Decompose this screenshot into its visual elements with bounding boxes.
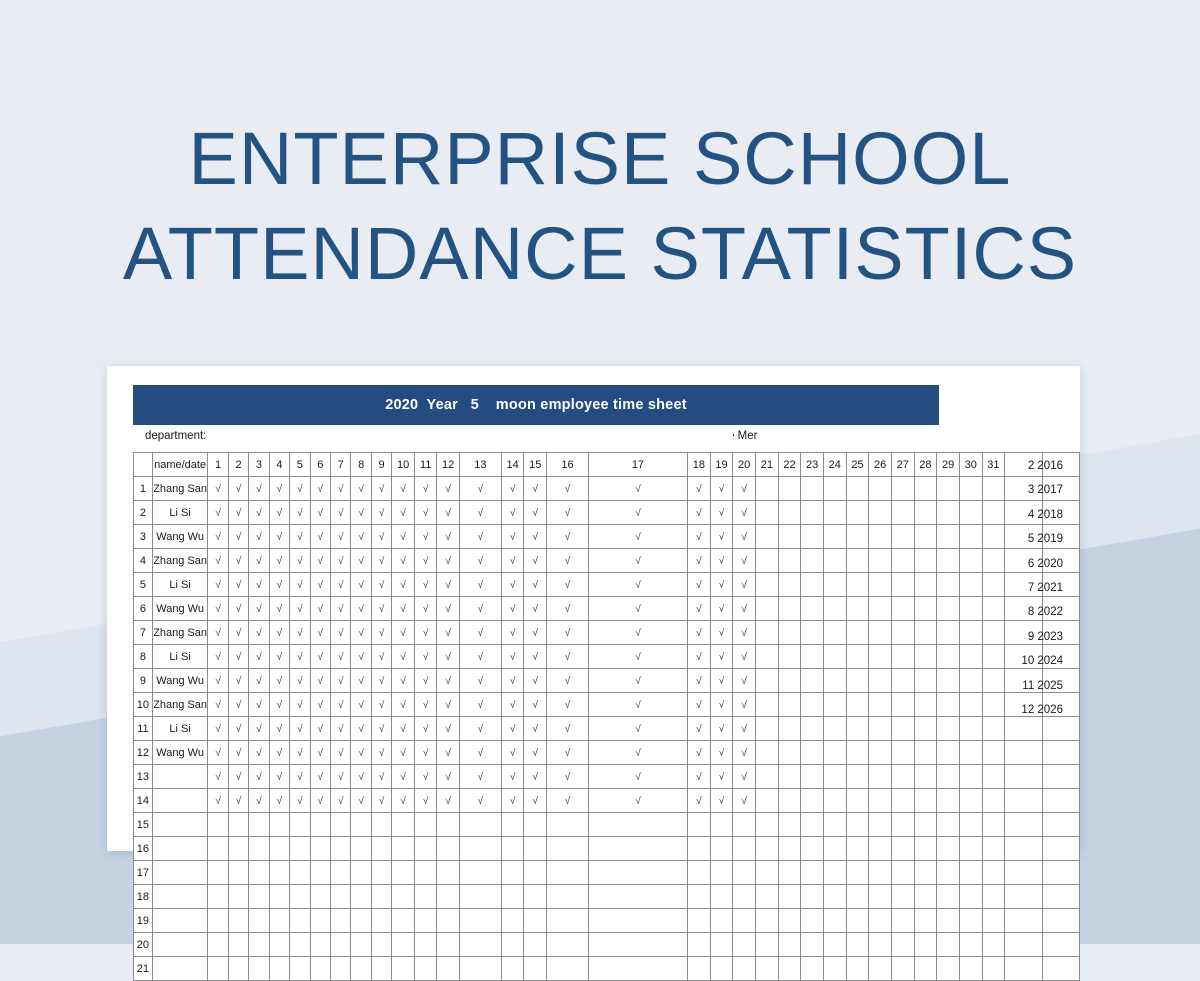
attendance-cell-r14-d6[interactable]: √ (310, 789, 330, 813)
attendance-cell-r6-d5[interactable]: √ (290, 597, 310, 621)
attendance-cell-r11-d25[interactable] (846, 717, 869, 741)
attendance-cell-r6-d2[interactable]: √ (228, 597, 248, 621)
attendance-cell-r8-d18[interactable]: √ (688, 645, 711, 669)
attendance-cell-r15-d22[interactable] (778, 813, 801, 837)
attendance-cell-r5-d5[interactable]: √ (290, 573, 310, 597)
attendance-cell-r17-d12[interactable] (437, 861, 460, 885)
attendance-cell-r14-d25[interactable] (846, 789, 869, 813)
attendance-cell-r18-d2[interactable] (228, 885, 248, 909)
attendance-cell-r18-d20[interactable] (733, 885, 756, 909)
attendance-cell-r17-d6[interactable] (310, 861, 330, 885)
attendance-cell-r9-d25[interactable] (846, 669, 869, 693)
attendance-cell-r19-d19[interactable] (710, 909, 733, 933)
employee-name-cell[interactable]: Wang Wu (152, 525, 208, 549)
attendance-cell-r7-d12[interactable]: √ (437, 621, 460, 645)
attendance-cell-r8-d3[interactable]: √ (249, 645, 269, 669)
attendance-cell-r12-d14[interactable]: √ (501, 741, 524, 765)
extra-cell-r17-2[interactable] (1042, 861, 1079, 885)
attendance-cell-r10-d3[interactable]: √ (249, 693, 269, 717)
attendance-cell-r11-d10[interactable]: √ (392, 717, 415, 741)
attendance-cell-r7-d11[interactable]: √ (414, 621, 436, 645)
attendance-cell-r16-d24[interactable] (823, 837, 846, 861)
header-day-19[interactable]: 19 (710, 453, 733, 477)
attendance-cell-r13-d1[interactable]: √ (208, 765, 228, 789)
attendance-cell-r3-d13[interactable]: √ (459, 525, 501, 549)
attendance-cell-r4-d7[interactable]: √ (331, 549, 351, 573)
employee-name-cell[interactable] (152, 765, 208, 789)
attendance-cell-r9-d2[interactable]: √ (228, 669, 248, 693)
attendance-cell-r2-d6[interactable]: √ (310, 501, 330, 525)
attendance-cell-r21-d19[interactable] (710, 957, 733, 981)
attendance-cell-r15-d2[interactable] (228, 813, 248, 837)
attendance-cell-r19-d10[interactable] (392, 909, 415, 933)
attendance-cell-r7-d29[interactable] (937, 621, 960, 645)
attendance-cell-r14-d29[interactable] (937, 789, 960, 813)
attendance-cell-r19-d14[interactable] (501, 909, 524, 933)
attendance-cell-r15-d20[interactable] (733, 813, 756, 837)
attendance-cell-r11-d1[interactable]: √ (208, 717, 228, 741)
attendance-cell-r13-d8[interactable]: √ (351, 765, 371, 789)
header-day-1[interactable]: 1 (208, 453, 228, 477)
attendance-cell-r2-d20[interactable]: √ (733, 501, 756, 525)
attendance-cell-r13-d28[interactable] (914, 765, 937, 789)
attendance-cell-r3-d3[interactable]: √ (249, 525, 269, 549)
attendance-cell-r12-d21[interactable] (756, 741, 779, 765)
attendance-cell-r19-d2[interactable] (228, 909, 248, 933)
attendance-cell-r15-d3[interactable] (249, 813, 269, 837)
attendance-cell-r13-d31[interactable] (982, 765, 1005, 789)
attendance-cell-r2-d13[interactable]: √ (459, 501, 501, 525)
extra-cell-r18-1[interactable] (1005, 885, 1042, 909)
attendance-cell-r4-d30[interactable] (959, 549, 982, 573)
attendance-cell-r3-d26[interactable] (869, 525, 892, 549)
extra-cell-r20-1[interactable] (1005, 933, 1042, 957)
attendance-cell-r6-d13[interactable]: √ (459, 597, 501, 621)
attendance-cell-r8-d20[interactable]: √ (733, 645, 756, 669)
attendance-cell-r9-d18[interactable]: √ (688, 669, 711, 693)
attendance-cell-r21-d17[interactable] (588, 957, 687, 981)
attendance-cell-r20-d10[interactable] (392, 933, 415, 957)
attendance-cell-r1-d27[interactable] (891, 477, 914, 501)
attendance-cell-r19-d5[interactable] (290, 909, 310, 933)
header-day-4[interactable]: 4 (269, 453, 289, 477)
attendance-cell-r16-d4[interactable] (269, 837, 289, 861)
attendance-cell-r14-d21[interactable] (756, 789, 779, 813)
attendance-cell-r17-d9[interactable] (371, 861, 391, 885)
attendance-cell-r21-d24[interactable] (823, 957, 846, 981)
attendance-cell-r6-d25[interactable] (846, 597, 869, 621)
attendance-cell-r8-d28[interactable] (914, 645, 937, 669)
attendance-cell-r19-d29[interactable] (937, 909, 960, 933)
attendance-cell-r18-d29[interactable] (937, 885, 960, 909)
attendance-cell-r5-d11[interactable]: √ (414, 573, 436, 597)
attendance-cell-r11-d26[interactable] (869, 717, 892, 741)
attendance-cell-r19-d28[interactable] (914, 909, 937, 933)
extra-cell-r15-1[interactable] (1005, 813, 1042, 837)
attendance-cell-r17-d27[interactable] (891, 861, 914, 885)
attendance-cell-r10-d29[interactable] (937, 693, 960, 717)
attendance-cell-r9-d20[interactable]: √ (733, 669, 756, 693)
attendance-cell-r9-d24[interactable] (823, 669, 846, 693)
attendance-cell-r9-d16[interactable]: √ (547, 669, 589, 693)
attendance-cell-r5-d4[interactable]: √ (269, 573, 289, 597)
attendance-cell-r4-d26[interactable] (869, 549, 892, 573)
attendance-cell-r2-d11[interactable]: √ (414, 501, 436, 525)
attendance-cell-r16-d6[interactable] (310, 837, 330, 861)
attendance-cell-r17-d24[interactable] (823, 861, 846, 885)
attendance-cell-r16-d2[interactable] (228, 837, 248, 861)
attendance-cell-r21-d18[interactable] (688, 957, 711, 981)
attendance-cell-r2-d30[interactable] (959, 501, 982, 525)
attendance-cell-r1-d20[interactable]: √ (733, 477, 756, 501)
attendance-cell-r18-d8[interactable] (351, 885, 371, 909)
attendance-cell-r13-d4[interactable]: √ (269, 765, 289, 789)
attendance-cell-r3-d12[interactable]: √ (437, 525, 460, 549)
attendance-cell-r5-d28[interactable] (914, 573, 937, 597)
attendance-cell-r2-d1[interactable]: √ (208, 501, 228, 525)
attendance-cell-r9-d22[interactable] (778, 669, 801, 693)
attendance-cell-r17-d10[interactable] (392, 861, 415, 885)
attendance-cell-r21-d20[interactable] (733, 957, 756, 981)
attendance-cell-r11-d4[interactable]: √ (269, 717, 289, 741)
attendance-cell-r15-d28[interactable] (914, 813, 937, 837)
attendance-cell-r10-d24[interactable] (823, 693, 846, 717)
attendance-cell-r5-d2[interactable]: √ (228, 573, 248, 597)
attendance-cell-r12-d10[interactable]: √ (392, 741, 415, 765)
attendance-cell-r10-d7[interactable]: √ (331, 693, 351, 717)
attendance-cell-r15-d24[interactable] (823, 813, 846, 837)
attendance-cell-r21-d8[interactable] (351, 957, 371, 981)
attendance-cell-r21-d30[interactable] (959, 957, 982, 981)
attendance-cell-r6-d29[interactable] (937, 597, 960, 621)
header-day-26[interactable]: 26 (869, 453, 892, 477)
attendance-cell-r16-d30[interactable] (959, 837, 982, 861)
extra-cell-r12-1[interactable] (1005, 741, 1042, 765)
attendance-cell-r18-d25[interactable] (846, 885, 869, 909)
attendance-cell-r6-d12[interactable]: √ (437, 597, 460, 621)
attendance-cell-r5-d3[interactable]: √ (249, 573, 269, 597)
attendance-cell-r4-d9[interactable]: √ (371, 549, 391, 573)
header-day-24[interactable]: 24 (823, 453, 846, 477)
attendance-cell-r18-d16[interactable] (547, 885, 589, 909)
attendance-cell-r14-d19[interactable]: √ (710, 789, 733, 813)
attendance-cell-r8-d2[interactable]: √ (228, 645, 248, 669)
attendance-cell-r4-d18[interactable]: √ (688, 549, 711, 573)
extra-cell-r21-1[interactable] (1005, 957, 1042, 981)
attendance-cell-r8-d16[interactable]: √ (547, 645, 589, 669)
extra-cell-r19-1[interactable] (1005, 909, 1042, 933)
attendance-cell-r13-d23[interactable] (801, 765, 824, 789)
header-day-13[interactable]: 13 (459, 453, 501, 477)
attendance-cell-r14-d28[interactable] (914, 789, 937, 813)
attendance-cell-r9-d13[interactable]: √ (459, 669, 501, 693)
attendance-cell-r1-d22[interactable] (778, 477, 801, 501)
attendance-cell-r9-d1[interactable]: √ (208, 669, 228, 693)
attendance-cell-r2-d5[interactable]: √ (290, 501, 310, 525)
extra-cell-r16-2[interactable] (1042, 837, 1079, 861)
attendance-cell-r7-d6[interactable]: √ (310, 621, 330, 645)
attendance-cell-r13-d16[interactable]: √ (547, 765, 589, 789)
attendance-cell-r9-d3[interactable]: √ (249, 669, 269, 693)
attendance-cell-r2-d9[interactable]: √ (371, 501, 391, 525)
attendance-cell-r2-d3[interactable]: √ (249, 501, 269, 525)
attendance-cell-r4-d22[interactable] (778, 549, 801, 573)
attendance-cell-r18-d21[interactable] (756, 885, 779, 909)
attendance-cell-r17-d4[interactable] (269, 861, 289, 885)
attendance-cell-r12-d30[interactable] (959, 741, 982, 765)
attendance-cell-r21-d7[interactable] (331, 957, 351, 981)
attendance-cell-r5-d27[interactable] (891, 573, 914, 597)
attendance-cell-r13-d20[interactable]: √ (733, 765, 756, 789)
attendance-cell-r17-d19[interactable] (710, 861, 733, 885)
attendance-cell-r4-d27[interactable] (891, 549, 914, 573)
attendance-cell-r1-d17[interactable]: √ (588, 477, 687, 501)
attendance-cell-r20-d22[interactable] (778, 933, 801, 957)
attendance-cell-r7-d25[interactable] (846, 621, 869, 645)
attendance-cell-r8-d27[interactable] (891, 645, 914, 669)
attendance-cell-r15-d6[interactable] (310, 813, 330, 837)
attendance-cell-r4-d10[interactable]: √ (392, 549, 415, 573)
attendance-cell-r13-d3[interactable]: √ (249, 765, 269, 789)
attendance-cell-r15-d12[interactable] (437, 813, 460, 837)
attendance-cell-r10-d30[interactable] (959, 693, 982, 717)
attendance-cell-r19-d6[interactable] (310, 909, 330, 933)
attendance-cell-r5-d13[interactable]: √ (459, 573, 501, 597)
attendance-cell-r18-d3[interactable] (249, 885, 269, 909)
attendance-cell-r6-d24[interactable] (823, 597, 846, 621)
attendance-cell-r6-d21[interactable] (756, 597, 779, 621)
attendance-cell-r17-d13[interactable] (459, 861, 501, 885)
attendance-cell-r9-d29[interactable] (937, 669, 960, 693)
attendance-cell-r11-d24[interactable] (823, 717, 846, 741)
extra-cell-r19-2[interactable] (1042, 909, 1079, 933)
header-day-7[interactable]: 7 (331, 453, 351, 477)
attendance-cell-r8-d4[interactable]: √ (269, 645, 289, 669)
attendance-cell-r8-d5[interactable]: √ (290, 645, 310, 669)
attendance-cell-r6-d1[interactable]: √ (208, 597, 228, 621)
extra-cell-r16-1[interactable] (1005, 837, 1042, 861)
attendance-cell-r12-d3[interactable]: √ (249, 741, 269, 765)
attendance-cell-r12-d1[interactable]: √ (208, 741, 228, 765)
attendance-cell-r20-d23[interactable] (801, 933, 824, 957)
attendance-cell-r15-d13[interactable] (459, 813, 501, 837)
header-day-8[interactable]: 8 (351, 453, 371, 477)
attendance-cell-r3-d10[interactable]: √ (392, 525, 415, 549)
attendance-cell-r4-d24[interactable] (823, 549, 846, 573)
extra-cell-r13-2[interactable] (1042, 765, 1079, 789)
attendance-cell-r2-d29[interactable] (937, 501, 960, 525)
extra-cell-r17-1[interactable] (1005, 861, 1042, 885)
attendance-cell-r14-d2[interactable]: √ (228, 789, 248, 813)
attendance-cell-r13-d12[interactable]: √ (437, 765, 460, 789)
attendance-cell-r9-d10[interactable]: √ (392, 669, 415, 693)
attendance-cell-r14-d14[interactable]: √ (501, 789, 524, 813)
attendance-cell-r7-d15[interactable]: √ (524, 621, 547, 645)
attendance-cell-r20-d21[interactable] (756, 933, 779, 957)
attendance-cell-r5-d23[interactable] (801, 573, 824, 597)
attendance-cell-r9-d5[interactable]: √ (290, 669, 310, 693)
attendance-cell-r4-d14[interactable]: √ (501, 549, 524, 573)
attendance-cell-r16-d26[interactable] (869, 837, 892, 861)
attendance-cell-r4-d17[interactable]: √ (588, 549, 687, 573)
attendance-cell-r3-d6[interactable]: √ (310, 525, 330, 549)
attendance-cell-r16-d20[interactable] (733, 837, 756, 861)
attendance-cell-r5-d24[interactable] (823, 573, 846, 597)
attendance-cell-r16-d16[interactable] (547, 837, 589, 861)
attendance-cell-r19-d3[interactable] (249, 909, 269, 933)
attendance-cell-r19-d12[interactable] (437, 909, 460, 933)
attendance-cell-r16-d27[interactable] (891, 837, 914, 861)
attendance-cell-r20-d28[interactable] (914, 933, 937, 957)
attendance-cell-r14-d30[interactable] (959, 789, 982, 813)
attendance-cell-r11-d5[interactable]: √ (290, 717, 310, 741)
attendance-cell-r17-d15[interactable] (524, 861, 547, 885)
header-day-29[interactable]: 29 (937, 453, 960, 477)
attendance-cell-r4-d11[interactable]: √ (414, 549, 436, 573)
attendance-cell-r7-d27[interactable] (891, 621, 914, 645)
attendance-cell-r1-d18[interactable]: √ (688, 477, 711, 501)
attendance-cell-r20-d1[interactable] (208, 933, 228, 957)
attendance-cell-r3-d5[interactable]: √ (290, 525, 310, 549)
attendance-cell-r20-d9[interactable] (371, 933, 391, 957)
attendance-cell-r9-d7[interactable]: √ (331, 669, 351, 693)
employee-name-cell[interactable] (152, 813, 208, 837)
attendance-cell-r3-d25[interactable] (846, 525, 869, 549)
attendance-cell-r15-d7[interactable] (331, 813, 351, 837)
attendance-cell-r16-d18[interactable] (688, 837, 711, 861)
attendance-cell-r14-d20[interactable]: √ (733, 789, 756, 813)
attendance-cell-r4-d1[interactable]: √ (208, 549, 228, 573)
extra-cell-r13-1[interactable] (1005, 765, 1042, 789)
attendance-cell-r7-d9[interactable]: √ (371, 621, 391, 645)
attendance-cell-r21-d27[interactable] (891, 957, 914, 981)
attendance-cell-r15-d15[interactable] (524, 813, 547, 837)
attendance-cell-r14-d13[interactable]: √ (459, 789, 501, 813)
employee-name-cell[interactable] (152, 789, 208, 813)
attendance-cell-r11-d9[interactable]: √ (371, 717, 391, 741)
attendance-cell-r1-d6[interactable]: √ (310, 477, 330, 501)
attendance-cell-r20-d27[interactable] (891, 933, 914, 957)
attendance-cell-r20-d6[interactable] (310, 933, 330, 957)
employee-name-cell[interactable]: Li Si (152, 501, 208, 525)
attendance-cell-r7-d28[interactable] (914, 621, 937, 645)
attendance-cell-r2-d28[interactable] (914, 501, 937, 525)
attendance-cell-r21-d15[interactable] (524, 957, 547, 981)
attendance-cell-r18-d7[interactable] (331, 885, 351, 909)
attendance-cell-r8-d30[interactable] (959, 645, 982, 669)
attendance-cell-r2-d8[interactable]: √ (351, 501, 371, 525)
attendance-cell-r1-d7[interactable]: √ (331, 477, 351, 501)
attendance-cell-r9-d11[interactable]: √ (414, 669, 436, 693)
attendance-cell-r1-d10[interactable]: √ (392, 477, 415, 501)
attendance-cell-r18-d4[interactable] (269, 885, 289, 909)
attendance-cell-r18-d31[interactable] (982, 885, 1005, 909)
attendance-cell-r9-d19[interactable]: √ (710, 669, 733, 693)
attendance-cell-r7-d18[interactable]: √ (688, 621, 711, 645)
attendance-cell-r6-d17[interactable]: √ (588, 597, 687, 621)
attendance-cell-r16-d22[interactable] (778, 837, 801, 861)
attendance-cell-r6-d11[interactable]: √ (414, 597, 436, 621)
attendance-cell-r14-d22[interactable] (778, 789, 801, 813)
attendance-cell-r4-d23[interactable] (801, 549, 824, 573)
attendance-cell-r5-d16[interactable]: √ (547, 573, 589, 597)
attendance-cell-r19-d11[interactable] (414, 909, 436, 933)
attendance-cell-r11-d17[interactable]: √ (588, 717, 687, 741)
attendance-cell-r19-d25[interactable] (846, 909, 869, 933)
employee-name-cell[interactable] (152, 933, 208, 957)
attendance-cell-r18-d27[interactable] (891, 885, 914, 909)
attendance-cell-r13-d10[interactable]: √ (392, 765, 415, 789)
attendance-cell-r1-d3[interactable]: √ (249, 477, 269, 501)
attendance-cell-r10-d20[interactable]: √ (733, 693, 756, 717)
attendance-cell-r2-d17[interactable]: √ (588, 501, 687, 525)
attendance-cell-r14-d8[interactable]: √ (351, 789, 371, 813)
attendance-cell-r7-d23[interactable] (801, 621, 824, 645)
attendance-cell-r12-d20[interactable]: √ (733, 741, 756, 765)
attendance-cell-r18-d17[interactable] (588, 885, 687, 909)
attendance-cell-r13-d14[interactable]: √ (501, 765, 524, 789)
attendance-cell-r2-d27[interactable] (891, 501, 914, 525)
attendance-cell-r7-d21[interactable] (756, 621, 779, 645)
attendance-cell-r8-d9[interactable]: √ (371, 645, 391, 669)
attendance-cell-r17-d5[interactable] (290, 861, 310, 885)
attendance-cell-r6-d7[interactable]: √ (331, 597, 351, 621)
header-day-21[interactable]: 21 (756, 453, 779, 477)
attendance-cell-r2-d24[interactable] (823, 501, 846, 525)
attendance-cell-r13-d26[interactable] (869, 765, 892, 789)
attendance-cell-r1-d2[interactable]: √ (228, 477, 248, 501)
attendance-cell-r19-d7[interactable] (331, 909, 351, 933)
attendance-cell-r16-d9[interactable] (371, 837, 391, 861)
attendance-cell-r11-d18[interactable]: √ (688, 717, 711, 741)
attendance-cell-r3-d14[interactable]: √ (501, 525, 524, 549)
attendance-cell-r3-d18[interactable]: √ (688, 525, 711, 549)
attendance-cell-r5-d21[interactable] (756, 573, 779, 597)
attendance-cell-r21-d31[interactable] (982, 957, 1005, 981)
attendance-cell-r10-d13[interactable]: √ (459, 693, 501, 717)
attendance-cell-r13-d30[interactable] (959, 765, 982, 789)
attendance-cell-r6-d23[interactable] (801, 597, 824, 621)
attendance-cell-r14-d11[interactable]: √ (414, 789, 436, 813)
attendance-cell-r12-d23[interactable] (801, 741, 824, 765)
attendance-cell-r10-d21[interactable] (756, 693, 779, 717)
attendance-cell-r2-d14[interactable]: √ (501, 501, 524, 525)
attendance-cell-r21-d29[interactable] (937, 957, 960, 981)
attendance-cell-r17-d22[interactable] (778, 861, 801, 885)
attendance-cell-r11-d7[interactable]: √ (331, 717, 351, 741)
attendance-cell-r7-d19[interactable]: √ (710, 621, 733, 645)
header-day-14[interactable]: 14 (501, 453, 524, 477)
attendance-cell-r7-d3[interactable]: √ (249, 621, 269, 645)
attendance-cell-r13-d15[interactable]: √ (524, 765, 547, 789)
attendance-cell-r21-d26[interactable] (869, 957, 892, 981)
employee-name-cell[interactable]: Wang Wu (152, 597, 208, 621)
header-day-16[interactable]: 16 (547, 453, 589, 477)
attendance-cell-r3-d1[interactable]: √ (208, 525, 228, 549)
attendance-cell-r20-d19[interactable] (710, 933, 733, 957)
employee-name-cell[interactable]: Wang Wu (152, 669, 208, 693)
extra-cell-r12-2[interactable] (1042, 741, 1079, 765)
attendance-cell-r14-d10[interactable]: √ (392, 789, 415, 813)
attendance-cell-r15-d23[interactable] (801, 813, 824, 837)
attendance-cell-r1-d5[interactable]: √ (290, 477, 310, 501)
attendance-cell-r21-d10[interactable] (392, 957, 415, 981)
attendance-cell-r11-d28[interactable] (914, 717, 937, 741)
attendance-cell-r15-d25[interactable] (846, 813, 869, 837)
attendance-cell-r15-d27[interactable] (891, 813, 914, 837)
attendance-cell-r15-d29[interactable] (937, 813, 960, 837)
attendance-cell-r16-d11[interactable] (414, 837, 436, 861)
